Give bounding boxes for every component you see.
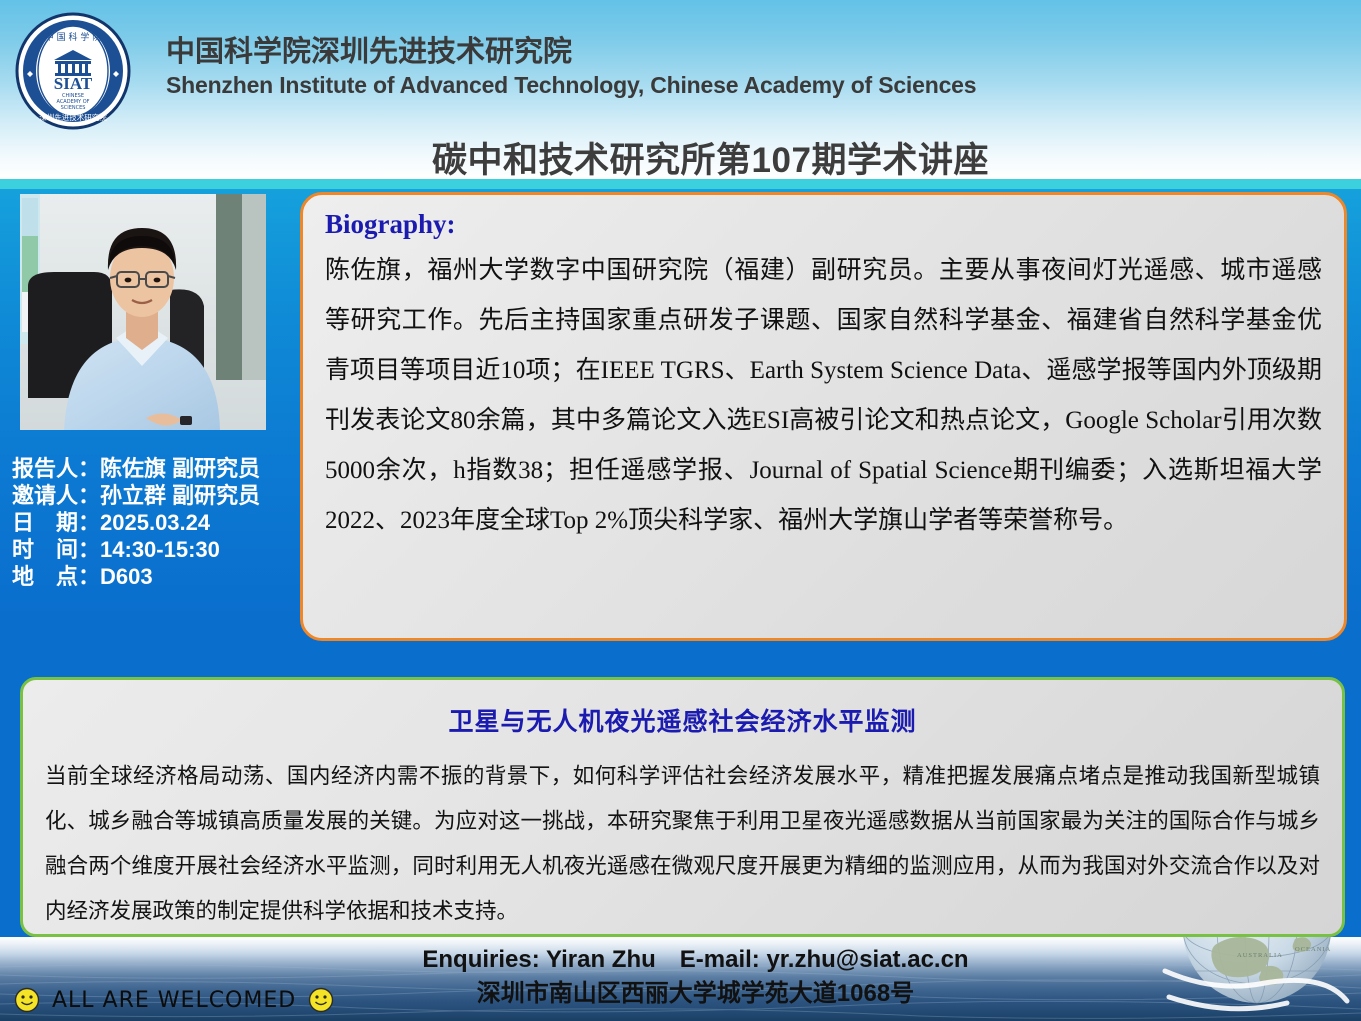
poster-header: 中 国 科 学 院 SIAT CHINESE ACADEMY OF SCIENC… — [0, 0, 1361, 179]
smiley-face-icon-2 — [308, 987, 334, 1013]
header-accent-band — [0, 179, 1361, 189]
siat-seal-logo-icon: 中 国 科 学 院 SIAT CHINESE ACADEMY OF SCIENC… — [14, 12, 132, 130]
info-value-presenter: 陈佐旗 副研究员 — [100, 456, 260, 481]
all-are-welcomed-text: ALL ARE WELCOMED — [52, 988, 296, 1013]
info-row-date: 日 期：2025.03.24 — [12, 509, 302, 536]
svg-text:SIAT: SIAT — [54, 74, 93, 93]
poster-footer: AUSTRALIA OCEANIA Enquiries: Yiran Zhu E… — [0, 937, 1361, 1021]
biography-text: 陈佐旗，福州大学数字中国研究院（福建）副研究员。主要从事夜间灯光遥感、城市遥感等… — [325, 246, 1322, 546]
talk-title: 卫星与无人机夜光遥感社会经济水平监测 — [39, 702, 1326, 738]
poster-root: 中 国 科 学 院 SIAT CHINESE ACADEMY OF SCIENC… — [0, 0, 1361, 1021]
info-row-venue: 地 点：D603 — [12, 563, 302, 590]
info-label-presenter: 报告人： — [12, 456, 100, 481]
biography-heading: Biography: — [325, 209, 1322, 240]
institute-names: 中国科学院深圳先进技术研究院 Shenzhen Institute of Adv… — [166, 34, 976, 100]
institute-name-cn: 中国科学院深圳先进技术研究院 — [166, 34, 976, 70]
info-value-venue: D603 — [100, 564, 153, 589]
info-label-date: 日 期： — [12, 510, 100, 535]
abstract-panel: 卫星与无人机夜光遥感社会经济水平监测 当前全球经济格局动荡、国内经济内需不振的背… — [20, 677, 1345, 937]
info-value-time: 14:30-15:30 — [100, 537, 220, 562]
speaker-info-block: 报告人：陈佐旗 副研究员 邀请人：孙立群 副研究员 日 期：2025.03.24… — [12, 455, 302, 590]
info-label-inviter: 邀请人： — [12, 483, 100, 508]
footer-enquiries: Enquiries: Yiran Zhu E-mail: yr.zhu@siat… — [30, 943, 1361, 977]
info-row-presenter: 报告人：陈佐旗 副研究员 — [12, 455, 302, 482]
biography-panel: Biography: 陈佐旗，福州大学数字中国研究院（福建）副研究员。主要从事夜… — [300, 192, 1347, 641]
info-label-venue: 地 点： — [12, 564, 100, 589]
info-value-inviter: 孙立群 副研究员 — [100, 483, 260, 508]
info-label-time: 时 间： — [12, 537, 100, 562]
smiley-face-icon — [14, 987, 40, 1013]
svg-text:SCIENCES: SCIENCES — [61, 105, 86, 111]
info-row-time: 时 间：14:30-15:30 — [12, 536, 302, 563]
speaker-portrait-photo — [20, 194, 266, 430]
all-are-welcomed-block: ALL ARE WELCOMED — [14, 987, 334, 1013]
svg-text:深圳先进技术研究院: 深圳先进技术研究院 — [39, 112, 107, 122]
institute-name-en: Shenzhen Institute of Advanced Technolog… — [166, 70, 976, 100]
abstract-text: 当前全球经济格局动荡、国内经济内需不振的背景下，如何科学评估社会经济发展水平，精… — [39, 754, 1326, 934]
info-row-inviter: 邀请人：孙立群 副研究员 — [12, 482, 302, 509]
svg-text:中 国 科 学 院: 中 国 科 学 院 — [45, 31, 101, 43]
info-value-date: 2025.03.24 — [100, 510, 210, 535]
lecture-series-title: 碳中和技术研究所第107期学术讲座 — [0, 132, 1361, 183]
